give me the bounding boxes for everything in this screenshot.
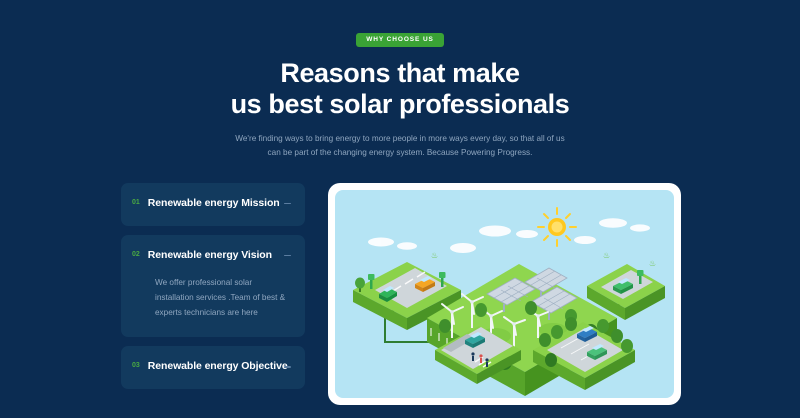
accordion-list: 01 Renewable energy Mission 02 Renewable… (121, 183, 305, 389)
accordion-title-01: Renewable energy Mission (148, 196, 291, 212)
section-badge: WHY CHOOSE US (356, 33, 444, 47)
accordion-title-02: Renewable energy Vision (148, 248, 291, 264)
minus-icon[interactable] (284, 200, 291, 207)
illustration-frame: ♨ (328, 183, 681, 405)
accordion-header-03[interactable]: 03 Renewable energy Objective (132, 359, 291, 375)
page-title: Reasons that make us best solar professi… (0, 58, 800, 121)
tree-icon (621, 339, 633, 353)
cloud-icon (368, 218, 650, 253)
minus-icon[interactable] (284, 252, 291, 259)
tree-icon (539, 333, 551, 347)
tree-icon (551, 325, 563, 339)
tree-icon (611, 329, 623, 343)
sun-icon (538, 208, 576, 246)
leaf-glyph: ♨ (431, 251, 438, 260)
accordion-header-02[interactable]: 02 Renewable energy Vision (132, 248, 291, 264)
accordion-number-03: 03 (132, 359, 140, 371)
tree-icon (525, 301, 537, 315)
illustration-canvas: ♨ (335, 190, 674, 398)
tree-icon (597, 319, 609, 333)
tree-icon (565, 317, 577, 331)
accordion-title-03: Renewable energy Objective (148, 359, 291, 375)
tree-icon (475, 303, 487, 317)
tree-icon (545, 353, 557, 367)
isometric-renewable-energy-illustration: ♨ (335, 190, 674, 398)
accordion-number-01: 01 (132, 196, 140, 208)
headline-line-1: Reasons that make (0, 58, 800, 89)
accordion-header-01[interactable]: 01 Renewable energy Mission (132, 196, 291, 212)
leaf-glyph: ♨ (649, 259, 656, 268)
section-content: 01 Renewable energy Mission 02 Renewable… (0, 183, 800, 405)
accordion-item-01[interactable]: 01 Renewable energy Mission (121, 183, 305, 226)
why-choose-us-section: WHY CHOOSE US Reasons that make us best … (0, 0, 800, 418)
tree-icon (439, 319, 451, 333)
accordion-item-02[interactable]: 02 Renewable energy Vision We offer prof… (121, 235, 305, 338)
section-header: WHY CHOOSE US Reasons that make us best … (0, 28, 800, 161)
leaf-glyph: ♨ (603, 251, 610, 260)
accordion-body-02: We offer professional solar installation… (132, 276, 291, 320)
section-description: We're finding ways to bring energy to mo… (235, 132, 565, 161)
minus-icon[interactable] (284, 363, 291, 370)
accordion-item-03[interactable]: 03 Renewable energy Objective (121, 346, 305, 389)
headline-line-2: us best solar professionals (0, 89, 800, 120)
accordion-number-02: 02 (132, 248, 140, 260)
